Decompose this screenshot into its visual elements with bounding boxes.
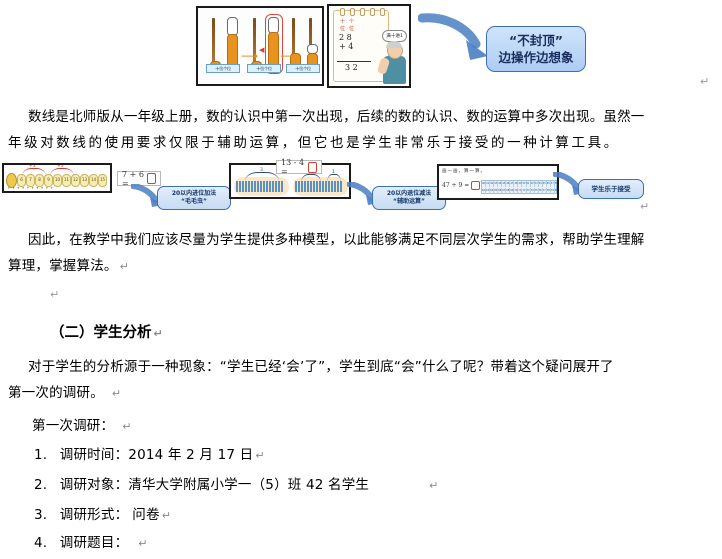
paragraph-mark-heading: ↵ <box>152 327 163 340</box>
equation-3: 47 + 9 = <box>442 181 480 190</box>
abacus-place-label-1: 十位个位 <box>206 64 240 73</box>
list-item-value: 清华大学附属小学一（5）班 42 名学生 <box>128 477 369 493</box>
abacus-place-label-3: 十位个位 <box>286 64 320 73</box>
section-heading: （二）学生分析↵ <box>50 320 163 347</box>
list-item-label: 调研时间： <box>52 447 129 463</box>
p3l2-text: 第一次的调研。 <box>8 385 104 401</box>
flow-label-1-line-1: 20以内进位加法 <box>172 190 216 199</box>
list-item-label: 调研题目： <box>52 535 129 551</box>
p3l1-text: 对于学生的分析源于一种现象：“学生已经‘会’了”，学生到底“会”什么了呢？带着这… <box>28 359 614 375</box>
answer-box-icon-1 <box>147 173 156 184</box>
paragraph-2-line-2: 算理，掌握算法。↵ <box>8 251 129 282</box>
paragraph-mark-li4: ↵ <box>128 537 147 550</box>
number-strip: 40414243 44454647 48495051 52535455 5657… <box>481 180 557 194</box>
caterpillar-arc-label-1: +3 <box>29 164 36 169</box>
abacus-illustration: 十位个位 十位个位 <box>196 6 324 86</box>
flow-label-3: 学生乐于接受 <box>578 179 644 199</box>
addend-1: 2 8 <box>339 33 353 42</box>
paragraph-4: 第一次调研：↵ <box>32 411 132 442</box>
list-item-value: 2014 年 2 月 17 日 <box>128 447 253 463</box>
orange-arrow-icon-1: ⟶ <box>241 50 258 62</box>
p1l2-text: 年级对数线的使用要求仅限于辅助运算，但它也是学生非常乐于接受的一种计算工具。 <box>8 135 620 151</box>
numberstrip-title: 画一画，算一算。 <box>442 168 486 174</box>
addition-rule-line <box>337 61 371 62</box>
equation-3-text: 47 + 9 = <box>442 182 469 189</box>
numberstrip-illustration: 画一画，算一算。 47 + 9 = 40414243 44454647 4849… <box>437 164 559 200</box>
paragraph-mark-fig2: ↵ <box>640 200 649 213</box>
list-item-number: 1. <box>34 447 47 463</box>
list-item-number: 4. <box>34 535 47 551</box>
paragraph-mark-fig1: ↵ <box>700 75 709 88</box>
equation-2-text: 13 - 4 = <box>281 158 306 176</box>
paragraph-mark-li1: ↵ <box>253 449 264 462</box>
orange-arrow-icon-2: ⟶ <box>280 50 297 62</box>
red-marker-icon: ◀ <box>259 46 264 54</box>
flow-label-1: 20以内进位加法 “毛毛虫” <box>157 186 231 210</box>
paragraph-1-line-2: 年级对数线的使用要求仅限于辅助运算，但它也是学生非常乐于接受的一种计算工具。 <box>8 128 620 159</box>
caterpillar-arc-label-2: +3 <box>57 164 64 169</box>
paragraph-mark-p4: ↵ <box>114 420 131 433</box>
figure-top-models: 十位个位 十位个位 <box>196 4 586 90</box>
curved-arrow-icon-large <box>418 12 492 64</box>
caterpillar-feet: ▾▾▾▾▾▾▾▾▾▾ <box>8 186 56 190</box>
answer-box-icon-3 <box>471 181 480 190</box>
list-item: 2. 调研对象：清华大学附属小学一（5）班 42 名学生↵ <box>34 470 439 501</box>
list-item: 1. 调研时间：2014 年 2 月 17 日↵ <box>34 440 265 471</box>
list-item: 4. 调研题目：↵ <box>34 528 148 559</box>
list-item-number: 3. <box>34 507 47 523</box>
list-item: 3. 调研形式：问卷↵ <box>34 500 171 531</box>
p2l2-text: 算理，掌握算法。 <box>8 258 118 274</box>
paragraph-mark-li3: ↵ <box>160 509 171 522</box>
section-heading-text: （二）学生分析 <box>50 325 152 341</box>
paragraph-mark-p2: ↵ <box>118 260 129 273</box>
addition-sum: 3 2 <box>345 63 358 72</box>
flow-label-1-line-2: “毛毛虫” <box>181 198 207 207</box>
paragraph-mark-empty: ↵ <box>50 288 59 301</box>
vertical-addition: 2 8 + 4 <box>339 33 353 51</box>
teacher-figure-icon <box>382 42 408 84</box>
callout-box-top: “不封顶” 边操作边想象 <box>486 26 586 72</box>
list-item-label: 调研对象： <box>52 477 129 493</box>
paragraph-mark-li2: ↵ <box>369 479 438 492</box>
flow-label-2: 20以内退位减法 “辅助运算” <box>372 186 446 210</box>
p4-text: 第一次调研： <box>32 418 114 434</box>
notepad-illustration: 十个 位位 2 8 + 4 3 2 满十进1 <box>327 4 411 88</box>
callout-line-2: 边操作边想象 <box>498 49 573 66</box>
tally-arc-label-3: 1 <box>332 170 335 175</box>
place-header-row1: 十个 <box>340 18 358 25</box>
paragraph-3-line-2: 第一次的调研。↵ <box>8 378 121 409</box>
callout-line-1: “不封顶” <box>509 32 563 49</box>
paragraph-mark-p3: ↵ <box>104 387 121 400</box>
document-page: 十位个位 十位个位 <box>0 0 722 543</box>
list-item-number: 2. <box>34 477 47 493</box>
answer-box-icon-2 <box>308 162 317 173</box>
spiral-rings-icon <box>340 8 385 16</box>
addend-2: + 4 <box>339 42 353 51</box>
place-header-row2: 位位 <box>340 25 358 32</box>
list-item-label: 调研形式： <box>52 507 129 523</box>
equation-box-2: 13 - 4 = <box>276 160 322 174</box>
flow-label-2-line-1: 20以内退位减法 <box>387 190 431 199</box>
figure-flow-models: 678 91011 121314 15 +3 +3 ▾▾▾▾▾▾▾▾▾▾ 7 +… <box>0 160 722 212</box>
list-item-value: 问卷 <box>128 507 159 523</box>
abacus-place-label-2: 十位个位 <box>247 64 281 73</box>
tally-arc-label-1: 3 <box>260 168 263 173</box>
flow-label-3-text: 学生乐于接受 <box>592 185 631 194</box>
flow-label-2-line-2: “辅助运算” <box>393 198 425 207</box>
caterpillar-numberline-illustration: 678 91011 121314 15 +3 +3 ▾▾▾▾▾▾▾▾▾▾ <box>2 163 112 193</box>
p2l1-text: 因此，在教学中我们应该尽量为学生提供多种模型，以此能够满足不同层次学生的需求，帮… <box>28 232 645 248</box>
p1l1-text: 数线是北师版从一年级上册，数的认识中第一次出现，后续的数的认识、数的运算中多次出… <box>28 109 645 125</box>
